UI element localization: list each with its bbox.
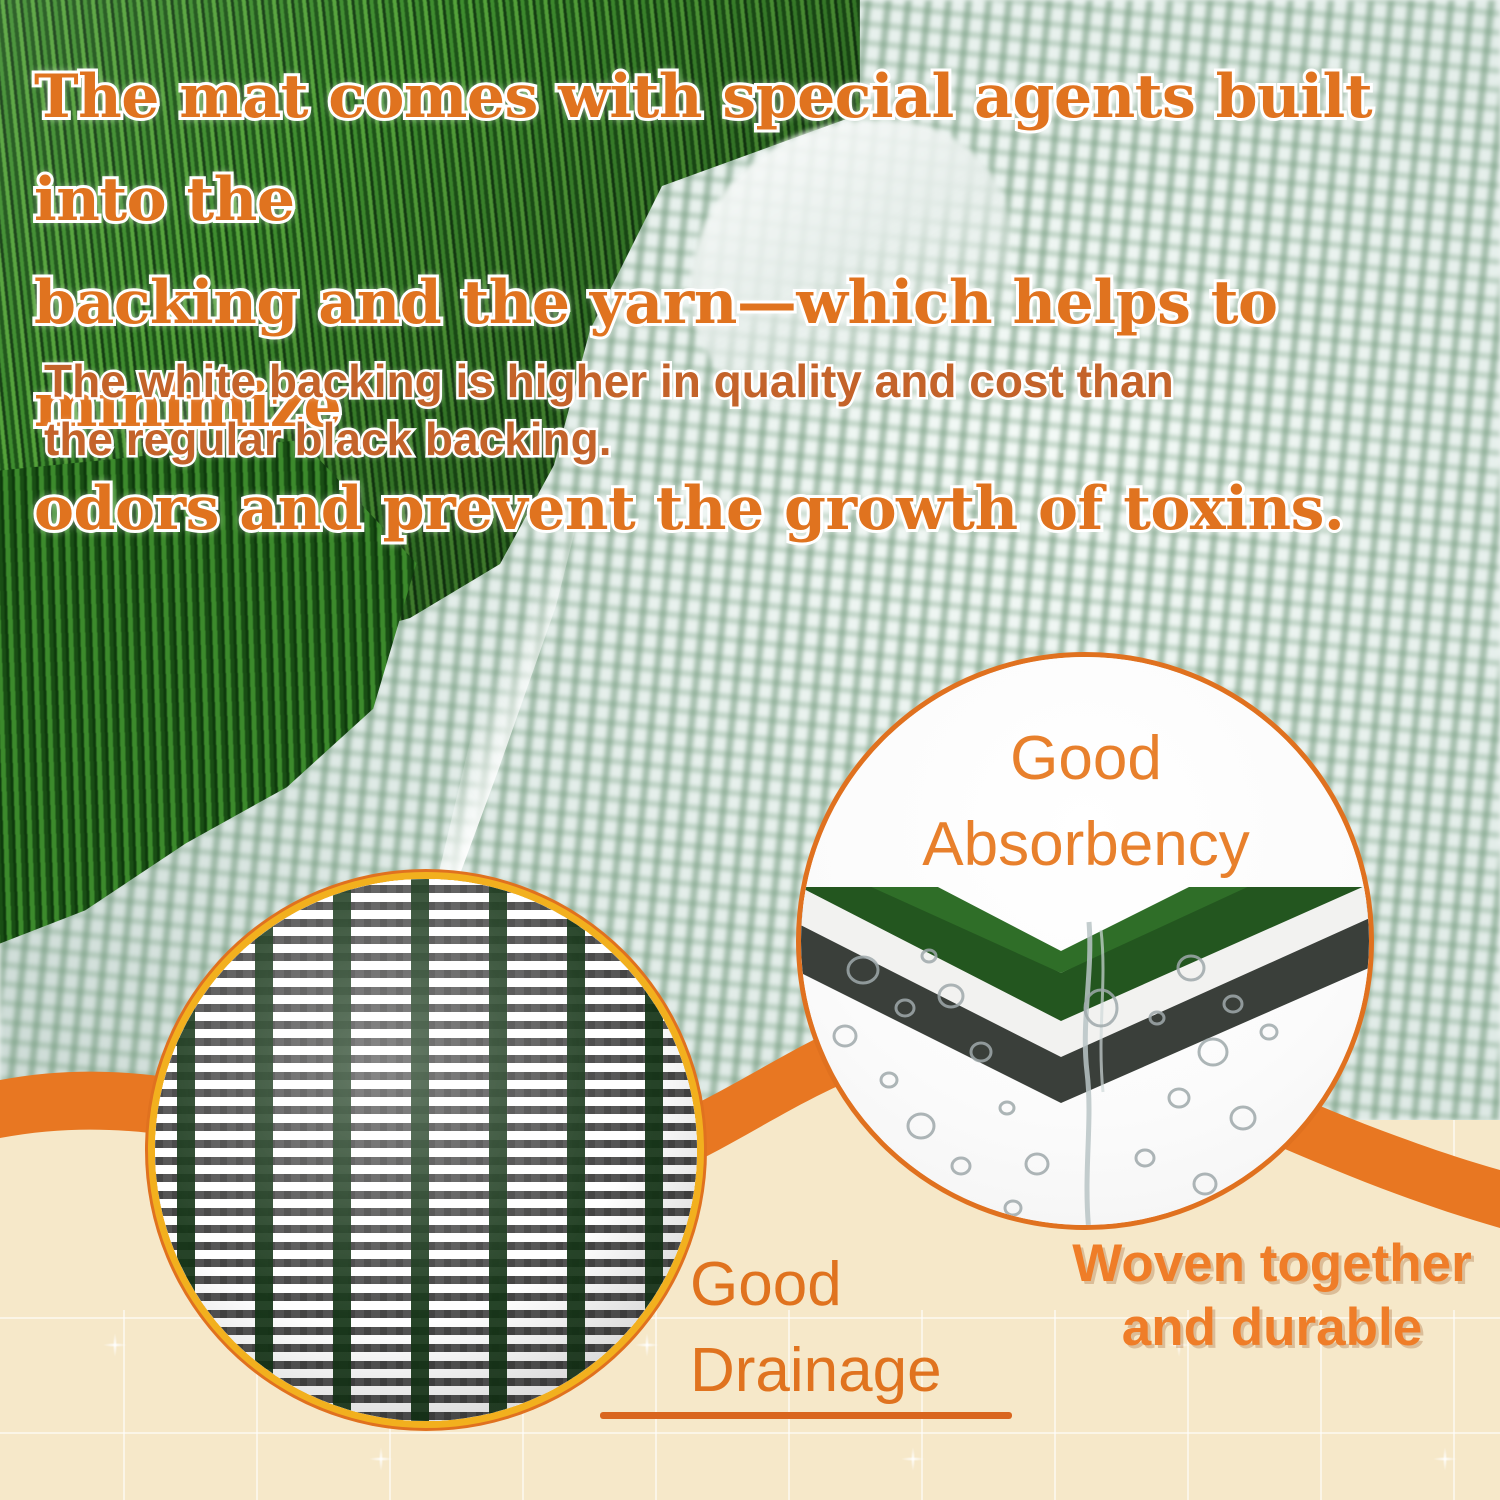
subtitle-line-2: the regular black backing. <box>44 410 1344 468</box>
weave-shading <box>155 879 697 1421</box>
drainage-label-line-1: Good <box>690 1242 1070 1328</box>
drainage-underline <box>600 1412 1012 1419</box>
absorbency-label-line-2: Absorbency <box>846 802 1326 888</box>
woven-label-line-2: and durable <box>1052 1296 1492 1360</box>
water-droplets-icon <box>801 912 1374 1230</box>
subtitle-line-1: The white backing is higher in quality a… <box>44 352 1344 410</box>
woven-label-line-1: Woven together <box>1052 1232 1492 1296</box>
drainage-closeup-circle <box>148 872 704 1428</box>
headline-line-3: odors and prevent the growth of toxins. <box>34 458 1484 561</box>
headline-line-1: The mat comes with special agents built … <box>34 46 1484 252</box>
product-infographic: The mat comes with special agents built … <box>0 0 1500 1500</box>
woven-label: Woven together and durable <box>1052 1232 1492 1360</box>
drainage-label: Good Drainage <box>690 1242 1070 1414</box>
absorbency-label-line-1: Good <box>846 716 1326 802</box>
headline: The mat comes with special agents built … <box>34 46 1484 561</box>
drainage-label-line-2: Drainage <box>690 1328 1070 1414</box>
absorbency-label: Good Absorbency <box>846 716 1326 888</box>
subtitle: The white backing is higher in quality a… <box>44 352 1344 468</box>
